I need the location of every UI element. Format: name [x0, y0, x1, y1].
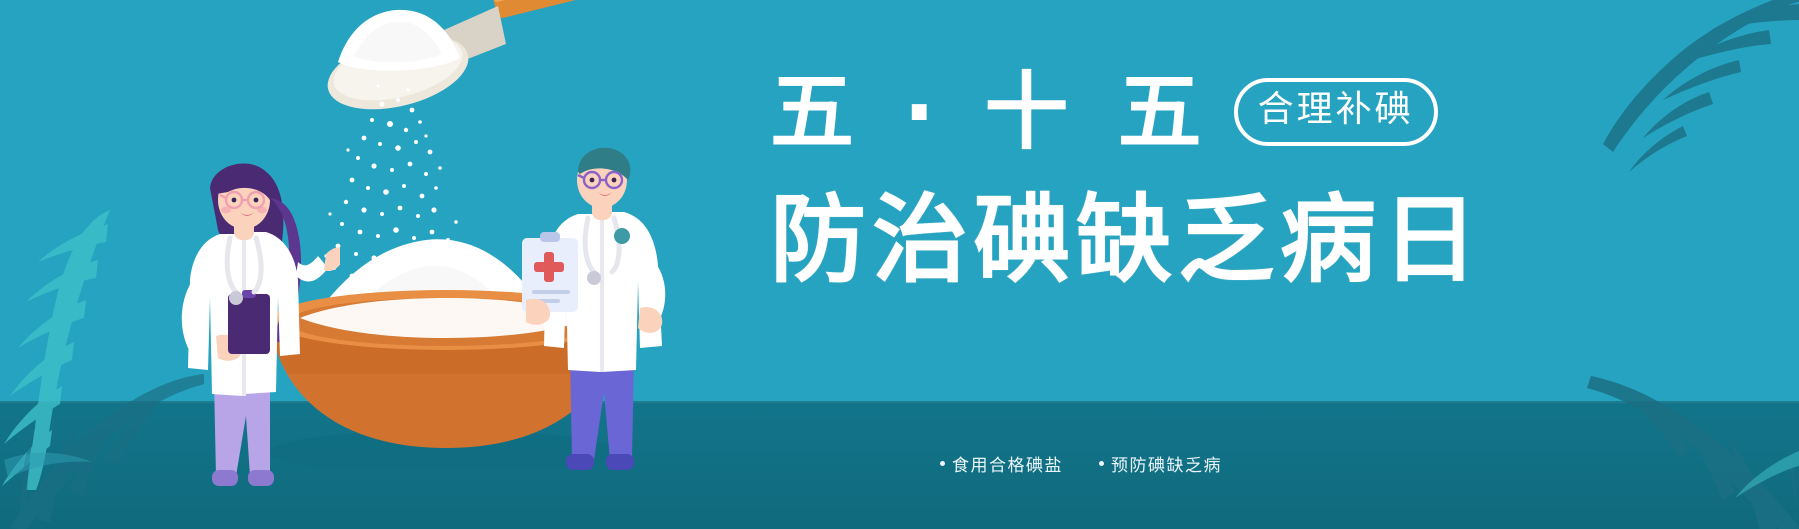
headline-line-one: 五 · 十 五 合理补碘: [770, 62, 1430, 162]
hand-right: [324, 247, 340, 271]
shoe-right: [606, 454, 634, 470]
spoon-icon: [320, 0, 588, 122]
headline-block: 五 · 十 五 合理补碘 防治碘缺乏病日: [770, 62, 1430, 352]
shoe-left: [212, 470, 238, 486]
main-title: 防治碘缺乏病日: [770, 188, 1430, 292]
bullet-dot-icon: [1099, 461, 1104, 466]
banner-root: 五 · 十 五 合理补碘 防治碘缺乏病日 食用合格碘盐 预防碘缺乏病: [0, 0, 1799, 529]
tagline-item-1: 食用合格碘盐: [940, 451, 1063, 476]
slogan-badge-label: 合理补碘: [1258, 90, 1414, 130]
shoe-left: [566, 454, 594, 470]
female-doctor-illustration: [150, 158, 340, 488]
tagline-bar: 食用合格碘盐 预防碘缺乏病: [940, 398, 1222, 529]
shoe-right: [248, 470, 274, 486]
event-date-title: 五 · 十 五: [770, 69, 1212, 155]
badge-pin: [614, 228, 630, 244]
tagline-item-2-label: 预防碘缺乏病: [1111, 451, 1222, 476]
tagline-item-2: 预防碘缺乏病: [1099, 451, 1222, 476]
bullet-dot-icon: [940, 461, 945, 466]
male-doctor-illustration: [500, 140, 700, 470]
tagline-item-1-label: 食用合格碘盐: [952, 451, 1063, 476]
slogan-badge: 合理补碘: [1234, 78, 1438, 146]
